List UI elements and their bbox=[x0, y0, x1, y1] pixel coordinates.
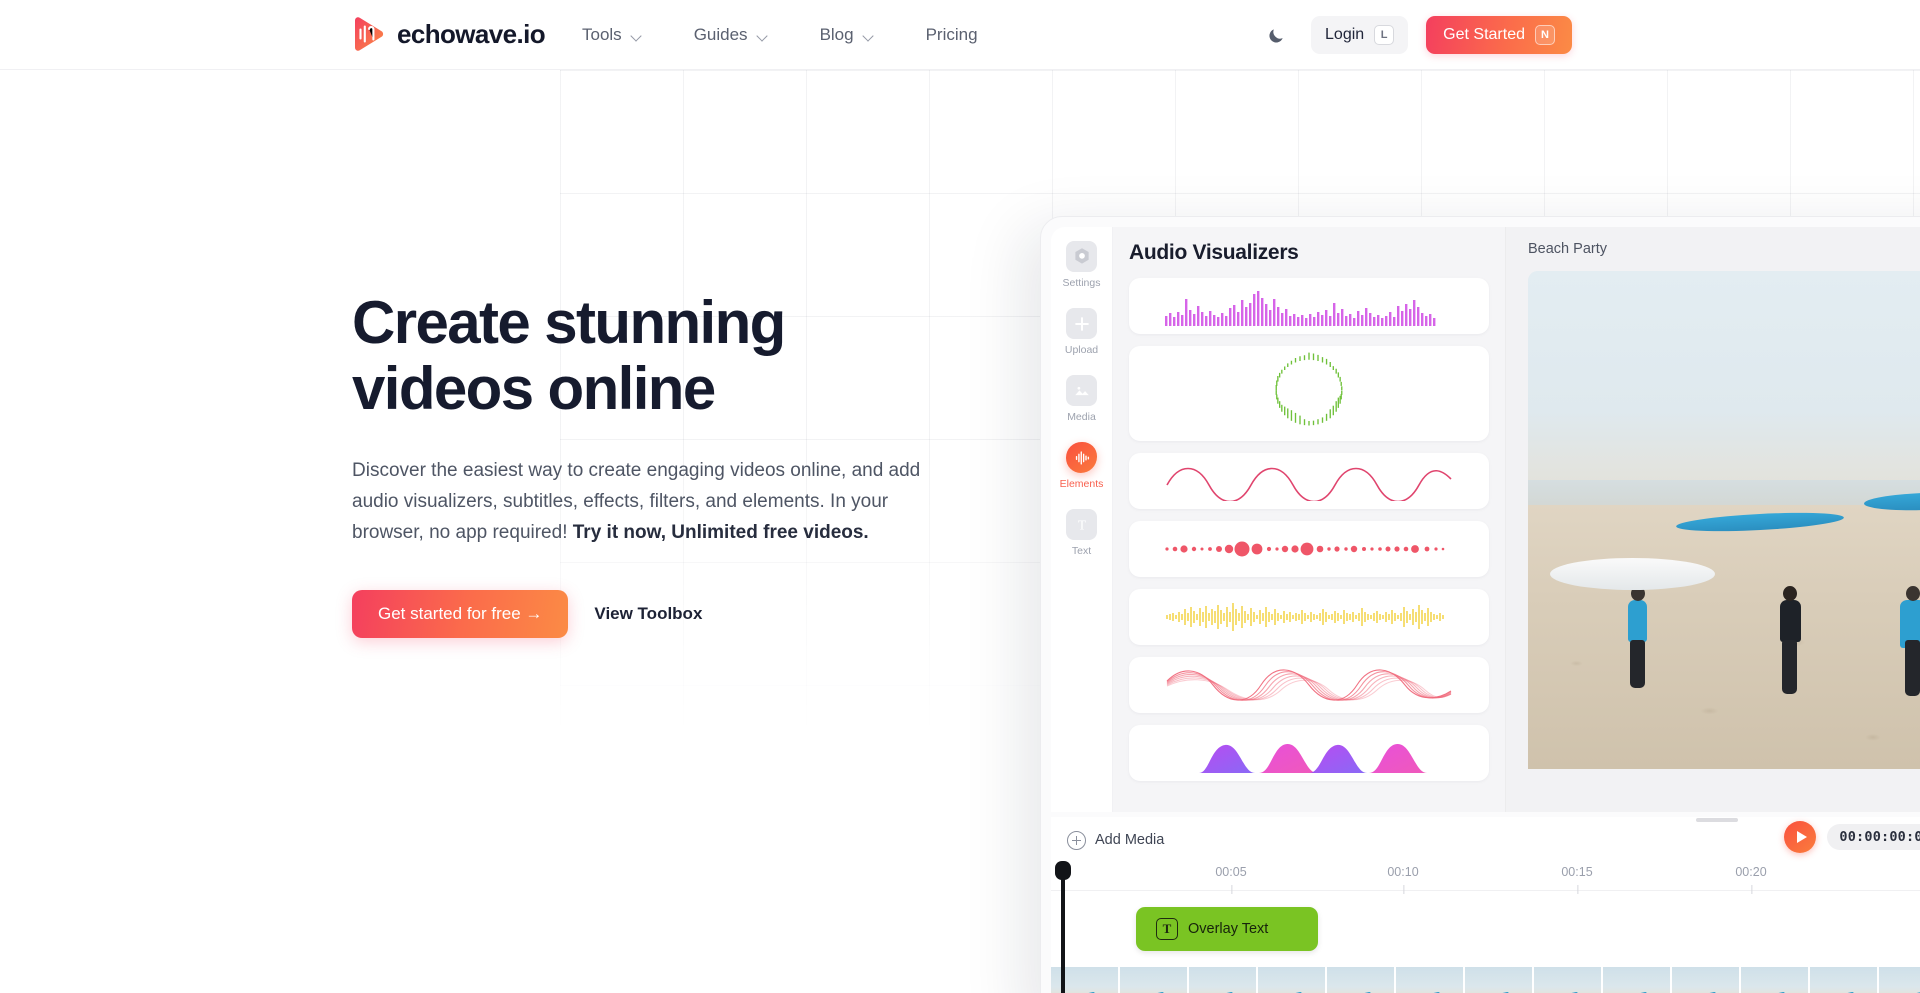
surfboard-white bbox=[1550, 558, 1715, 590]
hero-section: Create stunning videos online Discover t… bbox=[352, 290, 972, 638]
video-preview-canvas[interactable] bbox=[1528, 271, 1920, 769]
filmstrip-frame bbox=[1327, 967, 1394, 993]
editor-timeline: Add Media 00:00:00:00 00:05 00:10 00:15 … bbox=[1051, 817, 1920, 993]
spectrum-bars-icon bbox=[1159, 286, 1459, 326]
sidebar-item-elements-label: Elements bbox=[1060, 478, 1104, 490]
filmstrip-frame bbox=[1810, 967, 1877, 993]
editor-tool-rail: Settings Upload Media bbox=[1051, 227, 1113, 812]
sidebar-item-settings[interactable]: Settings bbox=[1053, 241, 1111, 289]
visualizer-circular-bars-green[interactable] bbox=[1129, 346, 1489, 441]
moon-icon[interactable] bbox=[1259, 18, 1293, 52]
nav-actions: Login L Get Started N bbox=[1259, 0, 1572, 70]
timeline-tracks: T Overlay Text bbox=[1051, 891, 1920, 993]
hero-paragraph-bold: Try it now, Unlimited free videos. bbox=[573, 522, 869, 543]
play-button[interactable] bbox=[1784, 821, 1816, 853]
preview-pane: Beach Party bbox=[1505, 227, 1920, 812]
top-navbar: echowave.io Tools Guides Blog Pricing bbox=[0, 0, 1920, 70]
preview-title: Beach Party bbox=[1528, 241, 1920, 257]
timeline-filmstrip[interactable] bbox=[1051, 967, 1920, 993]
login-button-label: Login bbox=[1325, 26, 1364, 44]
nav-item-tools[interactable]: Tools bbox=[556, 0, 668, 70]
sine-wave-icon bbox=[1159, 461, 1459, 501]
image-icon bbox=[1066, 375, 1097, 406]
panel-title: Audio Visualizers bbox=[1129, 241, 1489, 265]
visualizer-sine-wave-pink[interactable] bbox=[1129, 453, 1489, 509]
login-shortcut-badge: L bbox=[1374, 25, 1394, 45]
get-started-button-label: Get Started bbox=[1443, 26, 1525, 44]
dense-waveform-icon bbox=[1159, 597, 1459, 637]
nav-item-pricing[interactable]: Pricing bbox=[900, 0, 1004, 70]
get-started-free-button[interactable]: Get started for free → bbox=[352, 590, 568, 638]
visualizer-spectrum-bars-purple[interactable] bbox=[1129, 278, 1489, 334]
timeline-toolbar: Add Media 00:00:00:00 bbox=[1051, 817, 1920, 863]
scroll-indicator[interactable] bbox=[1696, 818, 1738, 822]
add-media-label: Add Media bbox=[1095, 832, 1164, 848]
sidebar-item-text[interactable]: T Text bbox=[1053, 509, 1111, 557]
timecode-display: 00:00:00:00 bbox=[1827, 824, 1920, 850]
sky-layer bbox=[1528, 271, 1920, 505]
nav-item-pricing-label: Pricing bbox=[926, 25, 978, 45]
audio-visualizers-panel: Audio Visualizers bbox=[1113, 227, 1505, 812]
circular-bars-icon bbox=[1261, 349, 1357, 439]
brand-name: echowave.io bbox=[397, 19, 545, 50]
visualizer-dot-pulse-red[interactable] bbox=[1129, 521, 1489, 577]
view-toolbox-link[interactable]: View Toolbox bbox=[594, 604, 702, 624]
chevron-down-icon bbox=[757, 32, 768, 39]
play-waveform-logo-icon bbox=[348, 14, 388, 54]
gear-icon bbox=[1066, 241, 1097, 272]
add-media-button[interactable]: Add Media bbox=[1067, 831, 1164, 850]
timeline-ruler[interactable]: 00:05 00:10 00:15 00:20 bbox=[1051, 863, 1920, 891]
sidebar-item-upload-label: Upload bbox=[1065, 344, 1098, 356]
filmstrip-frame bbox=[1396, 967, 1463, 993]
sidebar-item-upload[interactable]: Upload bbox=[1053, 308, 1111, 356]
nav-item-guides[interactable]: Guides bbox=[668, 0, 794, 70]
sidebar-item-media[interactable]: Media bbox=[1053, 375, 1111, 423]
page-title: Create stunning videos online bbox=[352, 290, 972, 422]
filmstrip-frame bbox=[1672, 967, 1739, 993]
get-started-button[interactable]: Get Started N bbox=[1426, 16, 1572, 54]
chevron-down-icon bbox=[631, 32, 642, 39]
filmstrip-frame bbox=[1879, 967, 1920, 993]
hero-heading-line-1: Create stunning bbox=[352, 289, 785, 356]
login-button[interactable]: Login L bbox=[1311, 16, 1408, 54]
text-clip-badge: T bbox=[1156, 918, 1178, 940]
layered-waves-icon bbox=[1159, 665, 1459, 705]
text-icon: T bbox=[1066, 509, 1097, 540]
plus-icon bbox=[1066, 308, 1097, 339]
nav-item-tools-label: Tools bbox=[582, 25, 622, 45]
brand-logo[interactable]: echowave.io bbox=[348, 14, 545, 54]
timeline-clip-overlay-text[interactable]: T Overlay Text bbox=[1136, 907, 1318, 951]
filmstrip-frame bbox=[1189, 967, 1256, 993]
visualizer-gradient-hills-purple[interactable] bbox=[1129, 725, 1489, 781]
hero-paragraph: Discover the easiest way to create engag… bbox=[352, 456, 927, 548]
filmstrip-frame bbox=[1120, 967, 1187, 993]
plus-circle-icon bbox=[1067, 831, 1086, 850]
nav-item-guides-label: Guides bbox=[694, 25, 748, 45]
filmstrip-frame bbox=[1741, 967, 1808, 993]
gradient-hills-icon bbox=[1159, 733, 1459, 773]
filmstrip-frame bbox=[1534, 967, 1601, 993]
chevron-down-icon bbox=[863, 32, 874, 39]
timeline-clip-label: Overlay Text bbox=[1188, 921, 1268, 937]
filmstrip-frame bbox=[1465, 967, 1532, 993]
nav-item-blog[interactable]: Blog bbox=[794, 0, 900, 70]
ruler-tick-00-10: 00:10 bbox=[1387, 865, 1418, 879]
nav-links: Tools Guides Blog Pricing bbox=[556, 0, 1004, 70]
sidebar-item-settings-label: Settings bbox=[1063, 277, 1101, 289]
sidebar-item-media-label: Media bbox=[1067, 411, 1096, 423]
get-started-shortcut-badge: N bbox=[1535, 25, 1555, 45]
editor-window: Settings Upload Media bbox=[1040, 216, 1920, 993]
nav-item-blog-label: Blog bbox=[820, 25, 854, 45]
ruler-tick-00-05: 00:05 bbox=[1215, 865, 1246, 879]
sand-layer bbox=[1528, 505, 1920, 769]
play-icon bbox=[1797, 831, 1807, 843]
ruler-tick-00-20: 00:20 bbox=[1735, 865, 1766, 879]
hero-actions: Get started for free → View Toolbox bbox=[352, 590, 972, 638]
timeline-playhead[interactable] bbox=[1061, 863, 1065, 993]
ruler-tick-00-15: 00:15 bbox=[1561, 865, 1592, 879]
hero-heading-line-2: videos online bbox=[352, 355, 715, 422]
sidebar-item-elements[interactable]: Elements bbox=[1053, 442, 1111, 490]
sidebar-item-text-label: Text bbox=[1072, 545, 1091, 557]
editor-body: Settings Upload Media bbox=[1051, 227, 1920, 812]
waveform-icon bbox=[1066, 442, 1097, 473]
playback-controls: 00:00:00:00 bbox=[1784, 821, 1920, 853]
filmstrip-frame bbox=[1258, 967, 1325, 993]
visualizer-layered-waves-pink[interactable] bbox=[1129, 657, 1489, 713]
svg-text:T: T bbox=[1077, 517, 1086, 532]
visualizer-dense-waveform-yellow[interactable] bbox=[1129, 589, 1489, 645]
dot-pulse-icon bbox=[1159, 529, 1459, 569]
filmstrip-frame bbox=[1603, 967, 1670, 993]
